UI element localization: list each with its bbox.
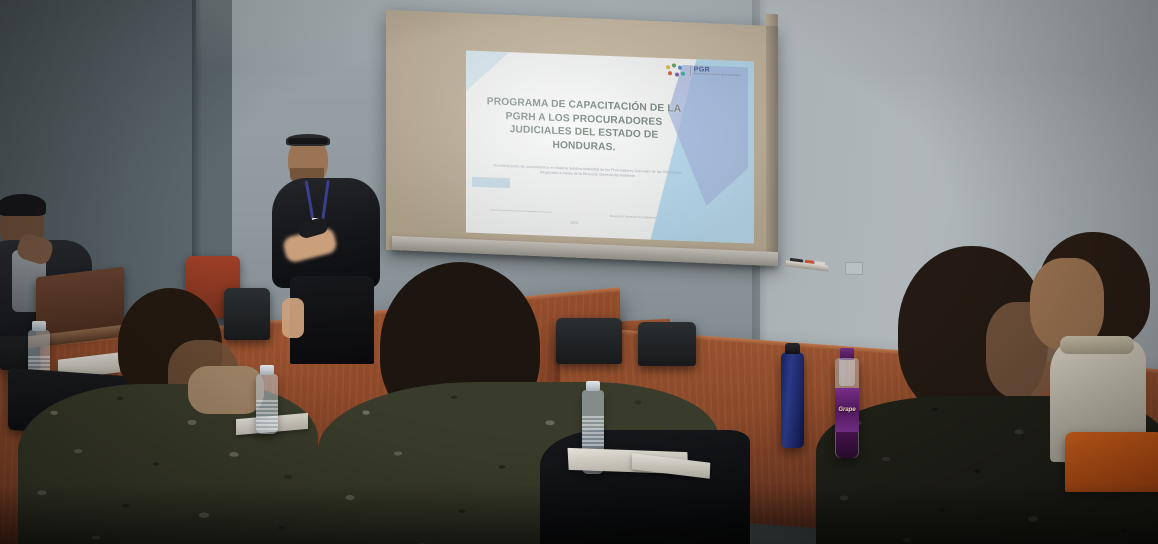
attendee-camo-2 xyxy=(330,262,750,544)
orange-item-right xyxy=(1065,432,1158,492)
pgr-emblem-icon xyxy=(665,63,687,78)
photo-scene: PGR Procuraduría General de la República… xyxy=(0,0,1158,544)
attendee-left-hair xyxy=(0,194,46,216)
pgr-logo: PGR Procuraduría General de la República xyxy=(665,63,740,80)
glasses-icon xyxy=(288,138,328,144)
bottle-grape[interactable]: Grape xyxy=(835,358,859,458)
whiteboard-right-edge xyxy=(766,14,778,266)
bottle-grape-brand: Grape xyxy=(838,407,855,413)
slide-subtitle: Fortalecimiento de conocimientos en Mate… xyxy=(490,163,686,181)
bottle-navy[interactable] xyxy=(781,352,804,448)
bottle-clear-left-2[interactable] xyxy=(256,374,278,434)
projected-slide: PGR Procuraduría General de la República… xyxy=(466,50,754,243)
attendee-right-collar xyxy=(1060,336,1134,354)
bottle-grape-label: Grape xyxy=(835,388,859,432)
slide-footer-right: Dirección General del Ambiente xyxy=(610,214,657,220)
slide-shape-bar xyxy=(472,177,510,188)
pgr-logo-text: PGR Procuraduría General de la República xyxy=(690,66,740,77)
slide-footer-center: 2024 xyxy=(570,220,578,224)
attendee-right xyxy=(1016,232,1158,462)
slide-divider xyxy=(490,209,552,212)
slide-title: PROGRAMA DE CAPACITACIÓN DE LA PGRH A LO… xyxy=(484,95,684,157)
pgr-logo-subtext: Procuraduría General de la República xyxy=(694,74,740,78)
attendee-camo-1-hands xyxy=(188,366,264,414)
